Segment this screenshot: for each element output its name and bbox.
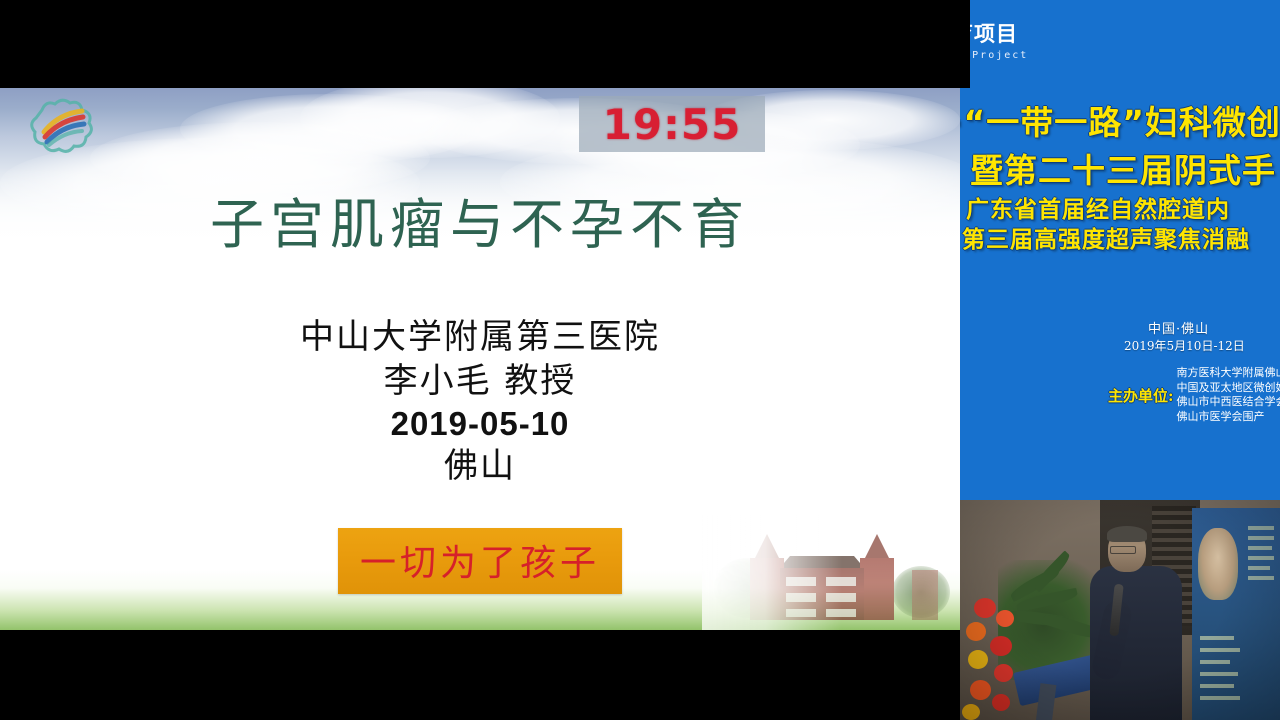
flower-cloud-emblem-icon bbox=[22, 98, 100, 160]
banner-organizer-label: 主办单位: bbox=[1108, 385, 1174, 406]
banner-organizer-item: 南方医科大学附属佛山 bbox=[1177, 366, 1280, 381]
slide-meta-block: 中山大学附属第三医院 李小毛 教授 2019-05-10 佛山 bbox=[0, 316, 960, 489]
presentation-slide[interactable]: 19:55 子宫肌瘤与不孕不育 中山大学附属第三医院 李小毛 教授 2019-0… bbox=[0, 88, 960, 630]
video-vignette bbox=[960, 500, 1280, 720]
slide-institution: 中山大学附属第三医院 bbox=[0, 316, 960, 360]
slide-highlight-text: 一切为了孩子 bbox=[360, 543, 600, 584]
banner-dates: 2019年5月10日-12日 bbox=[1124, 337, 1245, 354]
banner-title-line-2: 暨第二十三届阴式手 bbox=[970, 144, 1276, 192]
banner-organizer-item: 佛山市医学会围产 bbox=[1177, 410, 1280, 425]
slide-speaker: 李小毛 教授 bbox=[0, 360, 960, 404]
banner-organizer-list: 南方医科大学附属佛山 中国及亚太地区微创妇 佛山市中西医结合学会 佛山市医学会围… bbox=[1177, 366, 1280, 424]
slide-highlight-box: 一切为了孩子 bbox=[338, 528, 622, 594]
slide-date: 2019-05-10 bbox=[0, 403, 960, 445]
conference-banner: 继教育项目 ucation Project ·“一带一路”妇科微创、 暨第二十三… bbox=[960, 0, 1280, 500]
banner-header: 继教育项目 ucation Project bbox=[960, 18, 1028, 61]
banner-header-cn: 继教育项目 bbox=[960, 18, 1028, 48]
countdown-timer: 19:55 bbox=[579, 96, 765, 152]
slide-title: 子宫肌瘤与不孕不育 bbox=[0, 180, 960, 259]
banner-header-en: ucation Project bbox=[960, 50, 1028, 61]
banner-organizer-item: 佛山市中西医结合学会 bbox=[1177, 395, 1280, 410]
banner-subtitle-line-1: 广东省首届经自然腔道内 bbox=[966, 190, 1230, 224]
banner-letterbox-strip bbox=[960, 0, 970, 88]
slide-city: 佛山 bbox=[0, 445, 960, 489]
banner-organizers: 主办单位: 南方医科大学附属佛山 中国及亚太地区微创妇 佛山市中西医结合学会 佛… bbox=[1108, 366, 1280, 424]
banner-place: 中国·佛山 bbox=[1148, 318, 1209, 337]
banner-title-line-1: ·“一带一路”妇科微创、 bbox=[960, 96, 1280, 144]
live-speaker-feed[interactable] bbox=[960, 500, 1280, 720]
banner-subtitle-line-2: 第三届高强度超声聚焦消融 bbox=[962, 220, 1250, 254]
banner-organizer-item: 中国及亚太地区微创妇 bbox=[1177, 381, 1280, 396]
countdown-timer-value: 19:55 bbox=[603, 100, 742, 149]
campus-building-icon bbox=[742, 525, 942, 620]
video-player-stage: 19:55 子宫肌瘤与不孕不育 中山大学附属第三医院 李小毛 教授 2019-0… bbox=[0, 0, 1280, 720]
